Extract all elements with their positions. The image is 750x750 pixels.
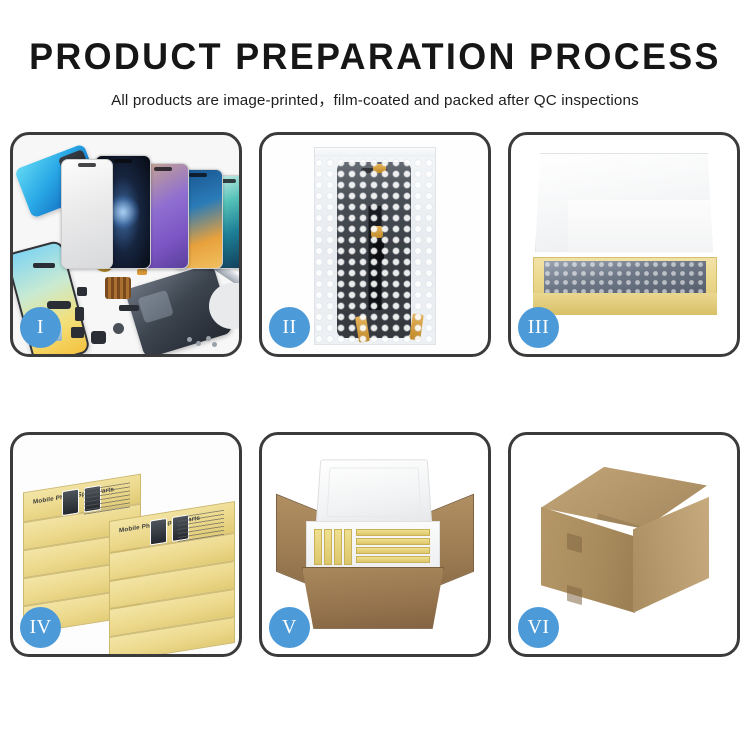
box-artwork-screen: [150, 518, 167, 546]
step-badge-4: IV: [20, 607, 61, 648]
inner-box-horizontal: [356, 529, 430, 536]
part-small-chip: [77, 287, 87, 296]
phone-screen-white: [61, 159, 113, 269]
header: PRODUCT PREPARATION PROCESS All products…: [0, 0, 750, 110]
part-logic-board: [105, 277, 131, 299]
step-badge-1: I: [20, 307, 61, 348]
box-artwork-screen: [62, 488, 79, 516]
step-badge-3: III: [518, 307, 559, 348]
process-step-4: IV: [10, 432, 242, 657]
screws-group: [187, 335, 217, 347]
part-speaker: [71, 327, 84, 338]
part-button: [113, 323, 124, 334]
process-step-2: II: [259, 132, 491, 357]
process-grid: I II: [7, 132, 743, 657]
step-badge-6: VI: [518, 607, 559, 648]
part-connector-strip: [33, 263, 55, 268]
phone-screen-fan: [61, 149, 239, 269]
box-front-panel: [533, 293, 717, 315]
inner-box-horizontal: [356, 556, 430, 563]
inner-box-vertical: [314, 529, 322, 565]
box-artwork-screen: [84, 485, 101, 513]
notch-icon: [189, 173, 207, 177]
notch-icon: [154, 167, 172, 171]
inner-boxes-group: [314, 527, 432, 567]
foam-lid: [316, 459, 433, 527]
box-artwork-screen: [172, 514, 189, 542]
bag-seal: [315, 148, 435, 157]
inner-box-horizontal: [356, 547, 430, 554]
process-step-5: V: [259, 432, 491, 657]
page-subtitle: All products are image-printed，film-coat…: [0, 88, 750, 110]
inner-box-vertical: [334, 529, 342, 565]
process-step-6: VI: [508, 432, 740, 657]
part-flex-cable: [47, 301, 71, 309]
part-gold-contact: [137, 269, 147, 275]
bubble-texture: [315, 148, 435, 344]
product-preparation-infographic: PRODUCT PREPARATION PROCESS All products…: [0, 0, 750, 750]
carton-label-bottom: [567, 585, 582, 605]
bubble-wrapped-screen-in-box: [544, 261, 706, 295]
process-step-3: III: [508, 132, 740, 357]
notch-icon: [114, 159, 132, 163]
step-badge-5: V: [269, 607, 310, 648]
notch-icon: [78, 163, 96, 167]
step-badge-2: II: [269, 307, 310, 348]
box-lid-open: [535, 153, 713, 261]
part-antenna-strip: [119, 305, 139, 311]
page-title: PRODUCT PREPARATION PROCESS: [11, 38, 739, 77]
inner-box-vertical: [344, 529, 352, 565]
part-camera-module: [91, 331, 106, 344]
inner-box-vertical: [324, 529, 332, 565]
inner-box-horizontal: [356, 538, 430, 545]
part-vibrator: [75, 307, 84, 321]
carton-body: [302, 567, 444, 629]
process-step-1: I: [10, 132, 242, 357]
bubble-wrap-bag: [314, 147, 436, 345]
